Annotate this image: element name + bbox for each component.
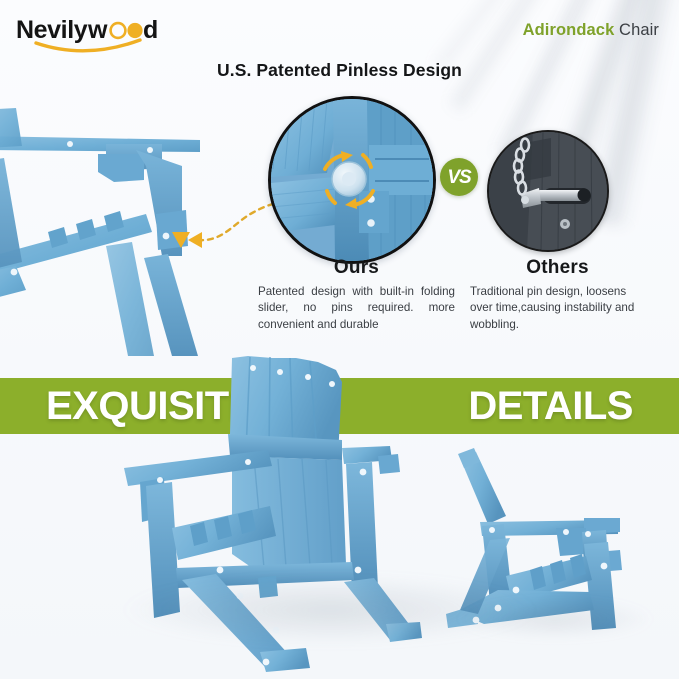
patent-headline: U.S. Patented Pinless Design: [0, 60, 679, 81]
infographic-canvas: Nevily w d Adirondack Chair U.S. Patente…: [0, 0, 679, 679]
others-description: Traditional pin design, loosens over tim…: [470, 284, 645, 333]
product-plain-word: Chair: [614, 21, 659, 39]
others-caption: Others Traditional pin design, loosens o…: [470, 257, 645, 333]
others-closeup-photo: [487, 130, 609, 252]
brand-logo: Nevily w d: [14, 12, 174, 56]
ours-caption: Ours Patented design with built-in foldi…: [258, 257, 455, 333]
svg-text:d: d: [143, 16, 158, 44]
others-title: Others: [470, 257, 645, 279]
ours-description: Patented design with built-in folding sl…: [258, 284, 455, 333]
vs-badge: VS: [440, 158, 478, 196]
folded-chair-floor-shadow: [455, 598, 655, 640]
svg-text:w: w: [87, 16, 108, 44]
product-brand-word: Adirondack: [523, 21, 615, 39]
svg-text:Nevily: Nevily: [16, 16, 88, 44]
vs-label: VS: [447, 168, 470, 187]
ours-title: Ours: [258, 257, 455, 279]
palm-leaf-shadow: [448, 0, 574, 113]
product-name-label: Adirondack Chair: [523, 21, 659, 40]
ours-closeup-photo: [268, 96, 436, 264]
